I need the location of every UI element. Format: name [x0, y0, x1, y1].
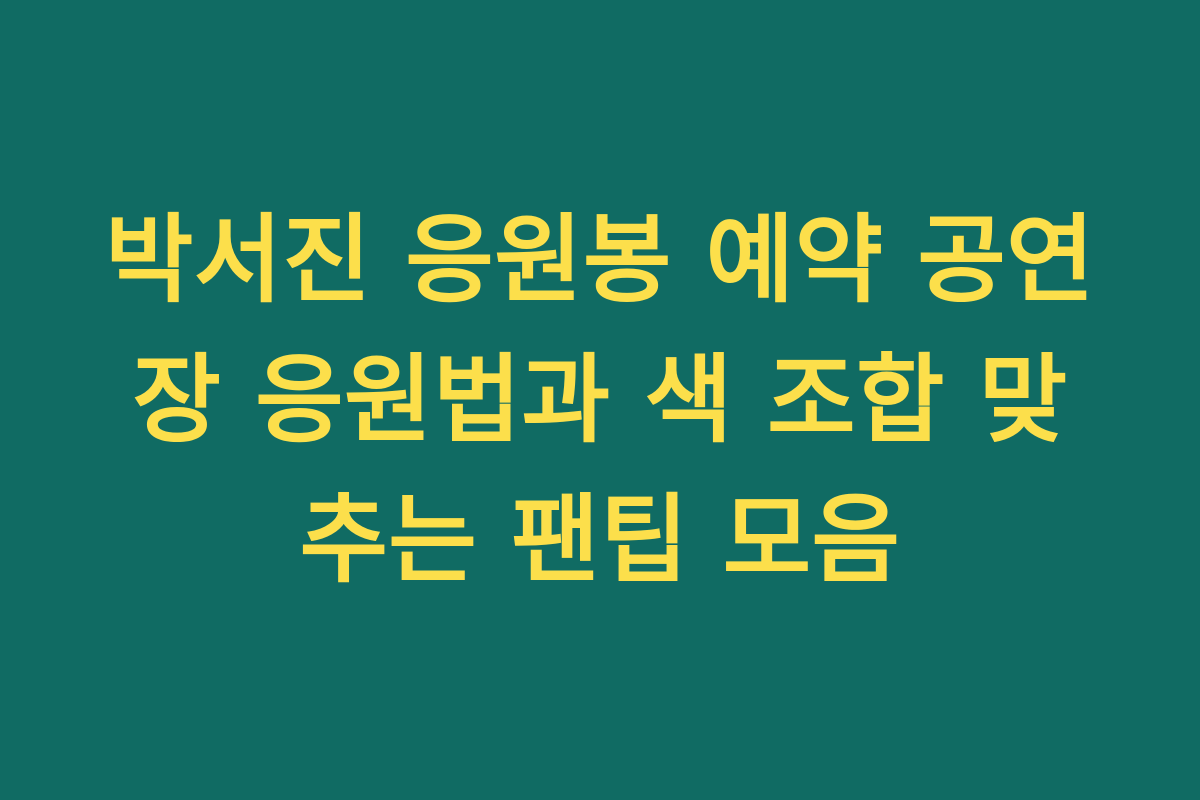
page-title: 박서진 응원봉 예약 공연 장 응원법과 색 조합 맞 추는 팬팁 모음: [70, 190, 1130, 610]
headline-line-1: 박서진 응원봉 예약 공연: [70, 190, 1130, 330]
text-banner: 박서진 응원봉 예약 공연 장 응원법과 색 조합 맞 추는 팬팁 모음: [0, 0, 1200, 800]
headline-line-3: 추는 팬팁 모음: [70, 470, 1130, 610]
headline-line-2: 장 응원법과 색 조합 맞: [70, 330, 1130, 470]
